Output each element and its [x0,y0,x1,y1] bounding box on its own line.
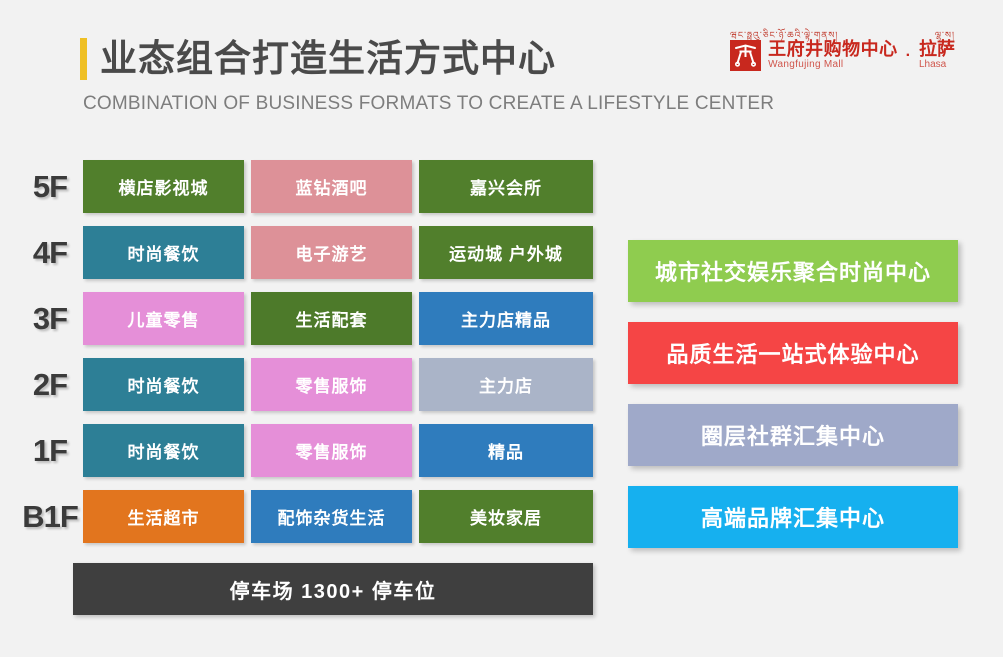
floor-block[interactable]: 时尚餐饮 [83,424,244,477]
floor-block[interactable]: 嘉兴会所 [419,160,593,213]
logo-name-en: Wangfujing Mall [768,59,898,71]
floor-block-group: 生活超市配饰杂货生活美妆家居 [83,490,593,543]
floor-block[interactable]: 电子游艺 [251,226,412,279]
floor-block-group: 时尚餐饮电子游艺运动城 户外城 [83,226,593,279]
floor-block[interactable]: 生活配套 [251,292,412,345]
positioning-card[interactable]: 圈层社群汇集中心 [628,404,958,466]
floor-block[interactable]: 美妆家居 [419,490,593,543]
floor-block[interactable]: 横店影视城 [83,160,244,213]
floor-block[interactable]: 儿童零售 [83,292,244,345]
floor-block[interactable]: 零售服饰 [251,424,412,477]
floor-block[interactable]: 运动城 户外城 [419,226,593,279]
floor-block[interactable]: 蓝钻酒吧 [251,160,412,213]
floor-block[interactable]: 生活超市 [83,490,244,543]
floor-label-3f: 3F [22,292,78,345]
floor-block[interactable]: 主力店精品 [419,292,593,345]
floor-block[interactable]: 配饰杂货生活 [251,490,412,543]
parking-bar: 停车场 1300+ 停车位 [73,563,593,615]
page-header: 业态组合打造生活方式中心 COMBINATION OF BUSINESS FOR… [0,0,1003,150]
floor-block-group: 横店影视城蓝钻酒吧嘉兴会所 [83,160,593,213]
title-block: 业态组合打造生活方式中心 COMBINATION OF BUSINESS FOR… [80,38,774,115]
floor-label-5f: 5F [22,160,78,213]
page-subtitle: COMBINATION OF BUSINESS FORMATS TO CREAT… [83,93,774,115]
logo-city-en: Lhasa [919,59,955,71]
page-title: 业态组合打造生活方式中心 [100,38,556,80]
floor-row: 5F横店影视城蓝钻酒吧嘉兴会所 [0,160,1003,213]
positioning-card[interactable]: 城市社交娱乐聚合时尚中心 [628,240,958,302]
floor-block[interactable]: 主力店 [419,358,593,411]
floor-label-b1f: B1F [22,490,78,543]
title-row: 业态组合打造生活方式中心 [80,38,774,80]
positioning-card[interactable]: 高端品牌汇集中心 [628,486,958,548]
tibetan-city-text: ལྷ་ས། [935,26,955,51]
positioning-card[interactable]: 品质生活一站式体验中心 [628,322,958,384]
floor-block-group: 时尚餐饮零售服饰精品 [83,424,593,477]
floor-block[interactable]: 精品 [419,424,593,477]
floor-label-4f: 4F [22,226,78,279]
tibetan-script-row: ཝང་ཧྥུའུ་ཅིང་ཉོ་ཆའི་ལྟེ་གནས། ལྷ་ས། [730,26,955,51]
brand-logo[interactable]: ཝང་ཧྥུའུ་ཅིང་ཉོ་ཆའི་ལྟེ་གནས། ལྷ་ས། [730,26,955,71]
floor-label-2f: 2F [22,358,78,411]
wangfujing-archway-icon [730,40,761,71]
positioning-card-list: 城市社交娱乐聚合时尚中心品质生活一站式体验中心圈层社群汇集中心高端品牌汇集中心 [628,240,958,568]
floor-block[interactable]: 零售服饰 [251,358,412,411]
floor-label-1f: 1F [22,424,78,477]
floor-block-group: 时尚餐饮零售服饰主力店 [83,358,593,411]
title-accent-bar [80,38,87,80]
floor-block-group: 儿童零售生活配套主力店精品 [83,292,593,345]
floor-block[interactable]: 时尚餐饮 [83,358,244,411]
floor-block[interactable]: 时尚餐饮 [83,226,244,279]
